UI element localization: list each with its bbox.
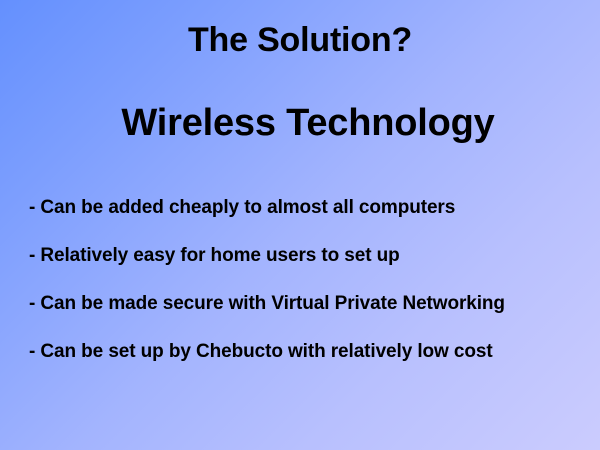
presentation-slide: The Solution? Wireless Technology - Can … — [0, 0, 600, 450]
slide-subtitle: Wireless Technology — [0, 103, 600, 145]
slide-title: The Solution? — [0, 22, 600, 59]
list-item: - Can be added cheaply to almost all com… — [29, 198, 589, 218]
bullet-list: - Can be added cheaply to almost all com… — [29, 198, 589, 362]
list-item: - Can be made secure with Virtual Privat… — [29, 294, 589, 314]
list-item: - Relatively easy for home users to set … — [29, 246, 589, 266]
list-item: - Can be set up by Chebucto with relativ… — [29, 342, 589, 362]
